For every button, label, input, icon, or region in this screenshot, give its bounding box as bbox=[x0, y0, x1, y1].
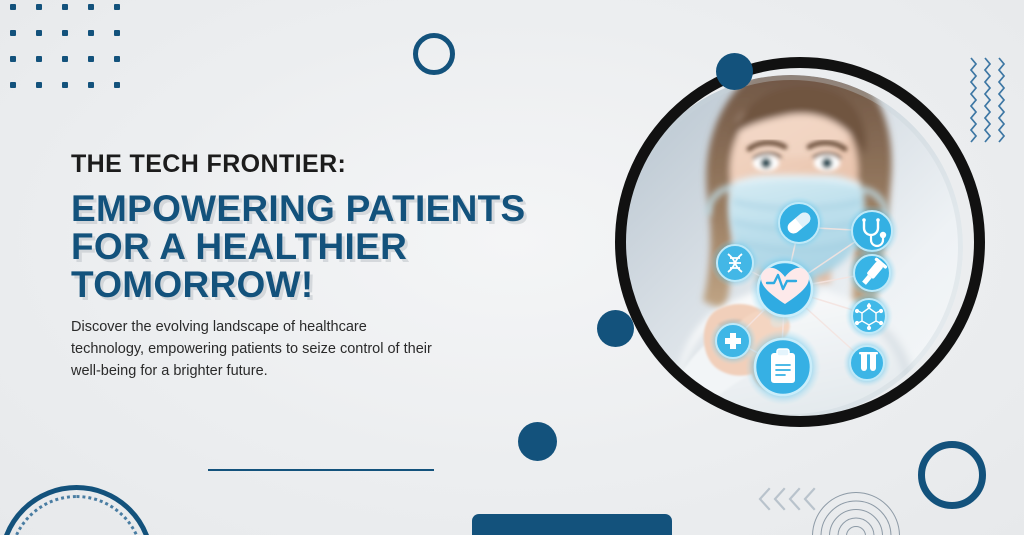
dot bbox=[62, 56, 68, 62]
dot bbox=[114, 82, 120, 88]
dot bbox=[36, 82, 42, 88]
dot bbox=[10, 4, 16, 10]
dot bbox=[114, 56, 120, 62]
divider-line bbox=[208, 469, 434, 471]
concentric-arcs-decoration bbox=[812, 492, 900, 535]
dot bbox=[10, 56, 16, 62]
dot bbox=[88, 30, 94, 36]
dot bbox=[10, 30, 16, 36]
dot bbox=[36, 30, 42, 36]
dot bbox=[36, 56, 42, 62]
eyebrow-text: THE TECH FRONTIER: bbox=[71, 150, 591, 179]
dot bbox=[62, 30, 68, 36]
poster-canvas: THE TECH FRONTIER: EMPOWERING PATIENTS F… bbox=[0, 0, 1024, 535]
headline-text-block: THE TECH FRONTIER: EMPOWERING PATIENTS F… bbox=[71, 150, 591, 382]
dot bbox=[62, 82, 68, 88]
dot bbox=[114, 4, 120, 10]
dot bbox=[88, 82, 94, 88]
cta-button[interactable] bbox=[472, 514, 672, 535]
dot bbox=[36, 4, 42, 10]
chevron-left-icons-decoration bbox=[757, 487, 819, 511]
ring-outline-top bbox=[413, 33, 455, 75]
dot-grid-decoration bbox=[10, 4, 140, 108]
dot bbox=[114, 30, 120, 36]
hero-image-container bbox=[615, 57, 985, 427]
dot bbox=[10, 82, 16, 88]
filled-circle-top-right bbox=[716, 53, 753, 90]
filled-circle-mid-left bbox=[597, 310, 634, 347]
ring-outline-bottom-right bbox=[918, 441, 986, 509]
dot bbox=[62, 4, 68, 10]
subtitle-text: Discover the evolving landscape of healt… bbox=[71, 316, 541, 382]
page-title: EMPOWERING PATIENTS FOR A HEALTHIER TOMO… bbox=[71, 190, 591, 304]
dot bbox=[88, 56, 94, 62]
filled-circle-bottom-middle bbox=[518, 422, 557, 461]
hero-ring-outline bbox=[615, 57, 985, 427]
dot bbox=[88, 4, 94, 10]
